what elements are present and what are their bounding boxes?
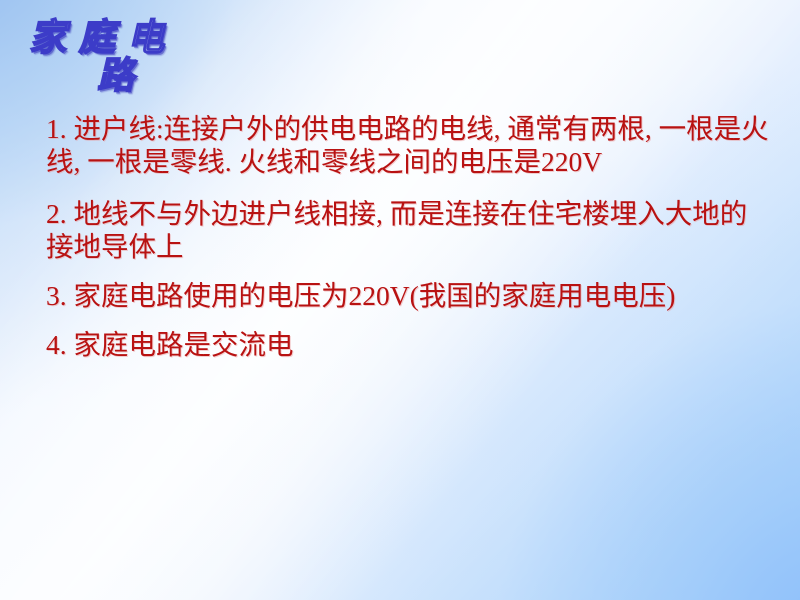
slide-title-line-1: 家庭电 — [28, 20, 456, 56]
slide-body: 1. 进户线:连接户外的供电电路的电线, 通常有两根, 一根是火线, 一根是零线… — [46, 112, 772, 375]
body-paragraph-2: 2. 地线不与外边进户线相接, 而是连接在住宅楼埋入大地的接地导体上 — [46, 197, 772, 263]
body-paragraph-3: 3. 家庭电路使用的电压为220V(我国的家庭用电电压) — [46, 279, 772, 312]
body-paragraph-4: 4. 家庭电路是交流电 — [46, 328, 772, 361]
body-paragraph-1: 1. 进户线:连接户外的供电电路的电线, 通常有两根, 一根是火线, 一根是零线… — [46, 112, 772, 178]
slide-title: 家庭电 路 — [28, 20, 448, 94]
slide-canvas: 家庭电 路 1. 进户线:连接户外的供电电路的电线, 通常有两根, 一根是火线,… — [0, 0, 800, 600]
slide-title-line-2: 路 — [96, 58, 456, 94]
